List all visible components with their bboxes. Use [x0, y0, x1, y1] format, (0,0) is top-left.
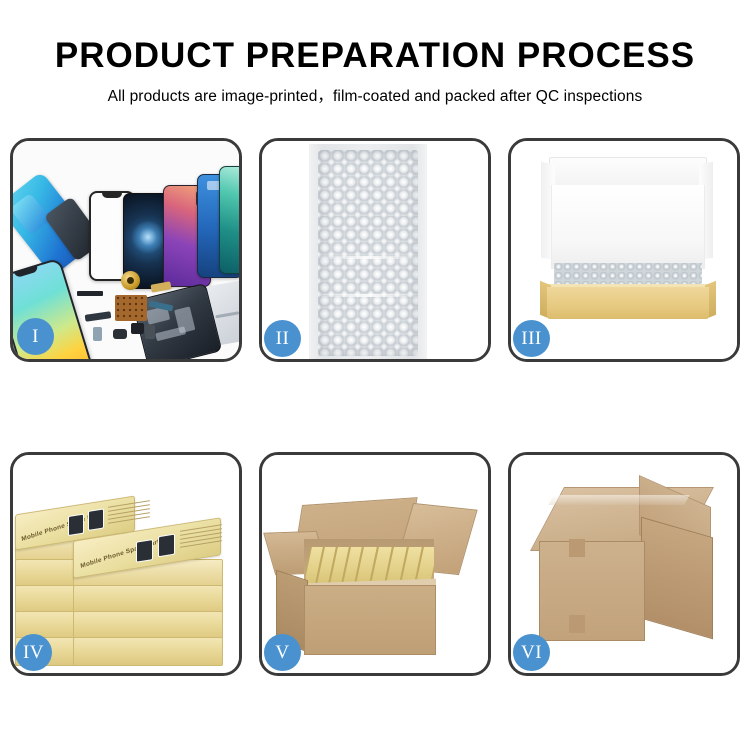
carton-front-face-icon: [304, 585, 436, 655]
step-panel-1[interactable]: I: [10, 138, 242, 362]
bubble-wrap-sleeve-icon: [309, 144, 427, 359]
carton-tape-tab-icon: [569, 615, 585, 633]
screw-tray-icon: [115, 295, 147, 321]
screen-photo-icon: [158, 534, 175, 558]
step-badge-3: III: [513, 320, 550, 357]
battery-part-icon: [145, 325, 155, 339]
box-stack-front: Mobile Phone Spare Parts: [73, 517, 221, 673]
flex-cable-icon: [149, 301, 174, 312]
flex-cable-icon: [85, 311, 112, 322]
speaker-module-icon: [113, 329, 127, 339]
step-badge-5: V: [264, 634, 301, 671]
speaker-coil-icon: [121, 271, 140, 290]
stacked-box-edge: [73, 637, 223, 666]
antenna-bar-icon: [77, 291, 103, 296]
step-panel-5[interactable]: V: [259, 452, 491, 676]
box-spec-lines: [180, 524, 222, 557]
step-panel-2[interactable]: II: [259, 138, 491, 362]
teal-phone-icon: [219, 166, 239, 274]
step-badge-2: II: [264, 320, 301, 357]
carton-right-face-icon: [641, 517, 713, 640]
steps-grid: I II: [0, 0, 750, 750]
step-panel-3[interactable]: III: [508, 138, 740, 362]
wrap-seam-icon: [318, 256, 418, 259]
carton-tape-seam-icon: [548, 495, 689, 505]
step-panel-6[interactable]: VI: [508, 452, 740, 676]
carton-front-face-icon: [539, 541, 645, 641]
step-badge-6: VI: [513, 634, 550, 671]
product-preparation-infographic: PRODUCT PREPARATION PROCESS All products…: [0, 0, 750, 750]
camera-module-icon: [131, 323, 144, 334]
box-front-face-icon: [547, 287, 709, 319]
step-badge-4: IV: [15, 634, 52, 671]
stacked-box-edge: [73, 611, 223, 640]
gold-connector-icon: [150, 281, 171, 292]
spare-components-group: [71, 269, 195, 359]
chip-icon: [93, 327, 102, 341]
wrap-seam-icon: [318, 294, 418, 297]
box-inner-wall-icon: [551, 185, 705, 269]
screen-photo-icon: [136, 539, 153, 563]
carton-tape-tab-icon: [569, 539, 585, 557]
bubble-texture-icon: [318, 150, 418, 356]
step-badge-1: I: [17, 318, 54, 355]
stacked-box-edge: [73, 585, 223, 614]
step-panel-4[interactable]: Mobile Phone Spare Parts Mo: [10, 452, 242, 676]
